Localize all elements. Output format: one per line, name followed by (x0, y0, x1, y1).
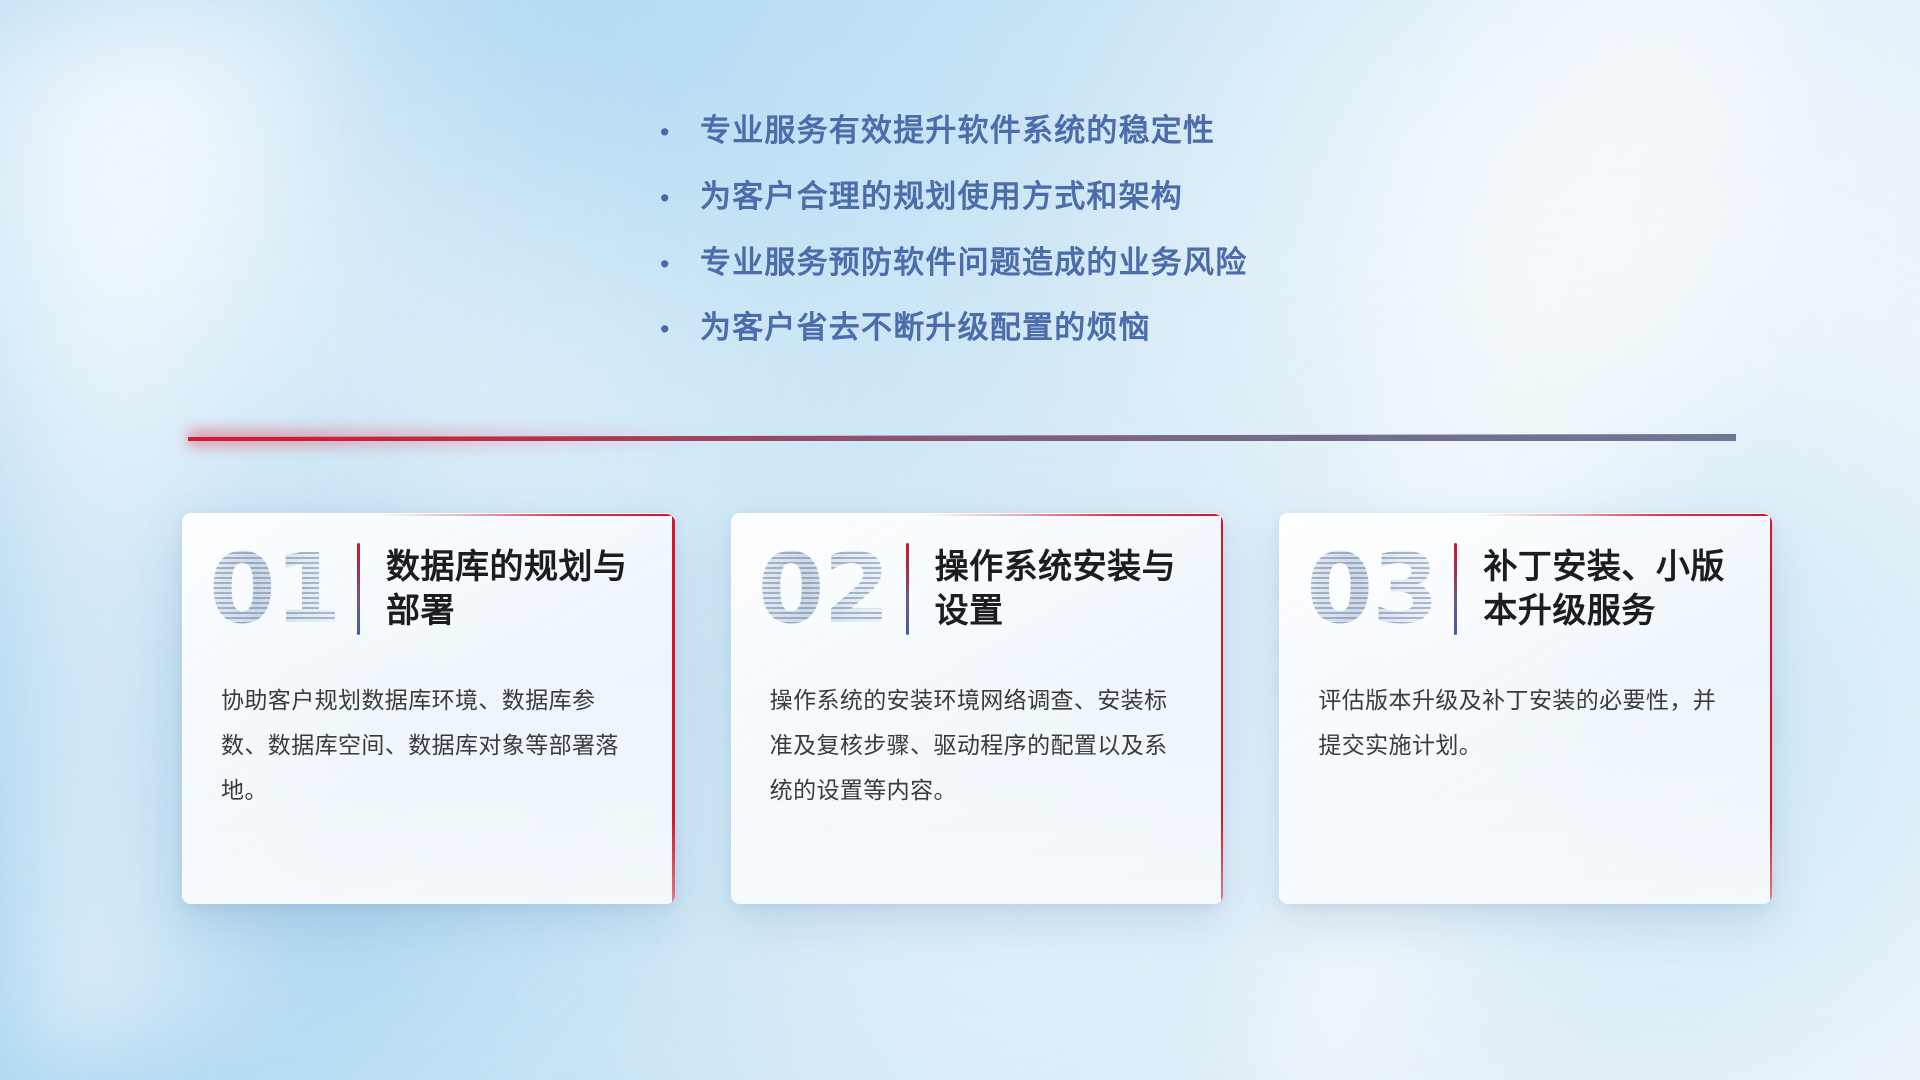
bullet-dot-icon: • (660, 251, 700, 278)
service-card[interactable]: 03 补丁安装、小版本升级服务 评估版本升级及补丁安装的必要性，并提交实施计划。 (1279, 513, 1772, 904)
bullet-dot-icon: • (660, 316, 700, 343)
card-number-watermark: 02 (758, 537, 894, 641)
card-number-text: 01 (209, 537, 345, 641)
list-item: • 为客户合理的规划使用方式和架构 (660, 178, 1440, 217)
bullet-text: 专业服务预防软件问题造成的业务风险 (700, 244, 1247, 283)
service-card-list: 01 数据库的规划与部署 协助客户规划数据库环境、数据库参数、数据库空间、数据库… (182, 513, 1772, 904)
card-title-rule (357, 543, 360, 635)
card-header: 01 数据库的规划与部署 (183, 514, 675, 638)
card-number-text: 03 (1306, 537, 1442, 641)
card-description: 评估版本升级及补丁安装的必要性，并提交实施计划。 (1280, 638, 1772, 768)
card-title-rule (1454, 543, 1457, 635)
service-card[interactable]: 01 数据库的规划与部署 协助客户规划数据库环境、数据库参数、数据库空间、数据库… (182, 513, 675, 904)
card-description: 协助客户规划数据库环境、数据库参数、数据库空间、数据库对象等部署落地。 (183, 638, 675, 813)
bullet-text: 为客户合理的规划使用方式和架构 (700, 178, 1183, 217)
list-item: • 为客户省去不断升级配置的烦恼 (660, 309, 1440, 348)
bullet-dot-icon: • (660, 119, 700, 146)
card-title: 补丁安装、小版本升级服务 (1483, 545, 1733, 633)
card-title-rule (906, 543, 909, 635)
bullet-text: 专业服务有效提升软件系统的稳定性 (700, 112, 1215, 151)
card-number-watermark: 01 (209, 537, 345, 641)
card-number-watermark: 03 (1306, 537, 1442, 641)
card-title: 数据库的规划与部署 (386, 545, 636, 633)
bullet-dot-icon: • (660, 185, 700, 212)
service-card[interactable]: 02 操作系统安装与设置 操作系统的安装环境网络调查、安装标准及复核步骤、驱动程… (731, 513, 1224, 904)
card-number-text: 02 (758, 537, 894, 641)
card-header: 02 操作系统安装与设置 (732, 514, 1224, 638)
card-description: 操作系统的安装环境网络调查、安装标准及复核步骤、驱动程序的配置以及系统的设置等内… (732, 638, 1224, 813)
bullet-text: 为客户省去不断升级配置的烦恼 (700, 309, 1151, 348)
list-item: • 专业服务预防软件问题造成的业务风险 (660, 244, 1440, 283)
card-header: 03 补丁安装、小版本升级服务 (1280, 514, 1772, 638)
benefits-bullet-list: • 专业服务有效提升软件系统的稳定性 • 为客户合理的规划使用方式和架构 • 专… (660, 112, 1440, 375)
card-title: 操作系统安装与设置 (935, 545, 1185, 633)
list-item: • 专业服务有效提升软件系统的稳定性 (660, 112, 1440, 151)
